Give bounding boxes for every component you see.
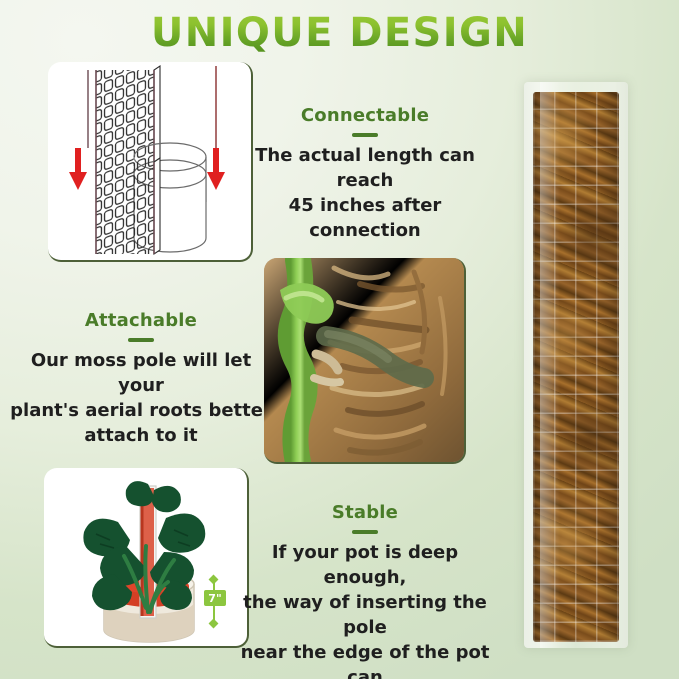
divider-rule <box>128 338 154 342</box>
down-arrow-right-icon <box>207 148 225 190</box>
divider-rule <box>352 530 378 534</box>
page-title: UNIQUE DESIGN <box>0 8 679 58</box>
feature-stable: Stable If your pot is deep enough, the w… <box>232 502 498 679</box>
product-moss-pole-photo <box>524 82 628 648</box>
divider-rule <box>352 133 378 137</box>
feature-connectable: Connectable The actual length can reach … <box>232 105 498 243</box>
down-arrow-left-icon <box>69 148 87 190</box>
connectable-illustration-card <box>48 62 253 262</box>
feature-attachable-body: Our moss pole will let your plant's aeri… <box>10 348 272 448</box>
depth-measure-badge: 7" <box>204 575 226 629</box>
pole-connection-diagram-icon <box>48 62 253 262</box>
feature-connectable-heading: Connectable <box>232 105 498 126</box>
aerial-roots-photo-art <box>264 258 466 464</box>
pole-coir-fill <box>533 92 619 642</box>
feature-stable-body: If your pot is deep enough, the way of i… <box>232 540 498 679</box>
aerial-roots-photo <box>264 258 466 464</box>
plant-in-pot-diagram-icon: 7" <box>44 468 249 648</box>
feature-connectable-body: The actual length can reach 45 inches af… <box>232 143 498 243</box>
feature-attachable-heading: Attachable <box>10 310 272 331</box>
depth-measure-label: 7" <box>208 592 221 605</box>
poster-root: UNIQUE DESIGN <box>0 0 679 679</box>
feature-attachable: Attachable Our moss pole will let your p… <box>10 310 272 448</box>
feature-stable-heading: Stable <box>232 502 498 523</box>
stable-illustration-card: 7" <box>44 468 249 648</box>
